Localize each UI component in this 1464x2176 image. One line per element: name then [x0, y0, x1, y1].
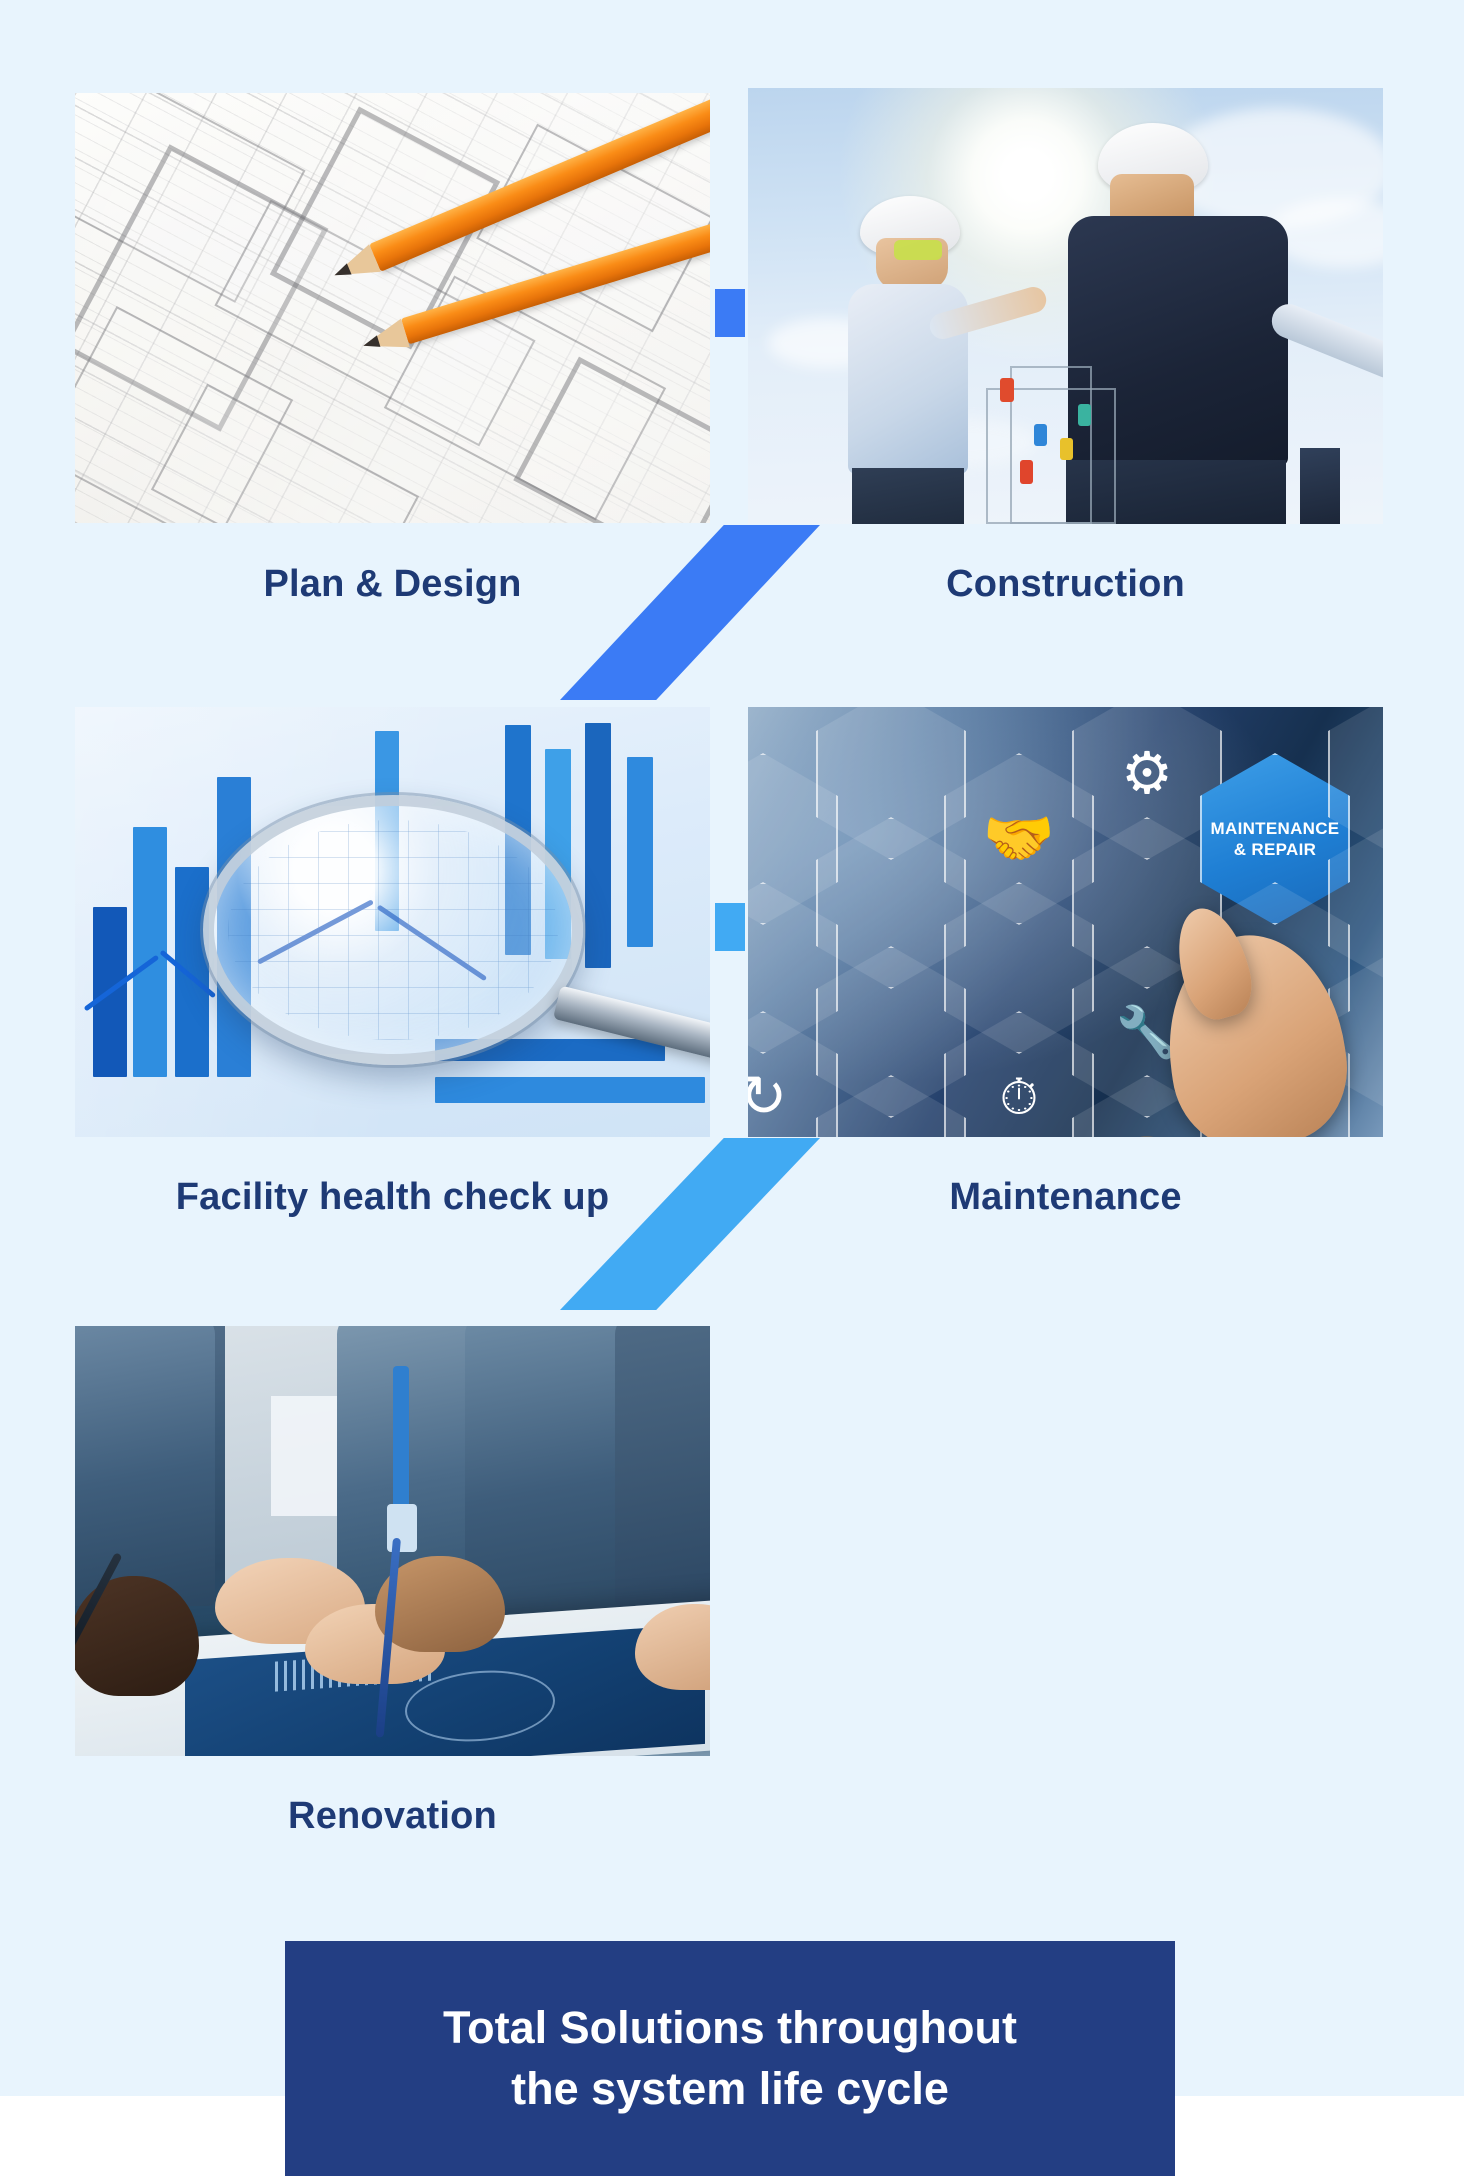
bottom-white-strip [0, 2096, 285, 2176]
blueprint-photo [75, 93, 710, 523]
wrench-screwdriver-icon: 🔧 [1116, 1007, 1178, 1057]
hex-line-1: MAINTENANCE [1211, 819, 1340, 838]
flow-arrow-1 [560, 525, 820, 700]
step-label-construction: Construction [748, 563, 1383, 606]
stopwatch-icon: ⏱ [1000, 1072, 1039, 1122]
step-card-plan-design[interactable] [75, 93, 710, 523]
construction-site-photo [748, 88, 1383, 524]
banner-line-2: the system life cycle [511, 2059, 949, 2120]
hex-line-2: & REPAIR [1234, 840, 1316, 859]
renovation-photo [75, 1326, 710, 1756]
handshake-icon: 🤝 [983, 810, 1055, 868]
step-label-plan-design: Plan & Design [75, 563, 710, 606]
step-label-facility-health-check: Facility health check up [75, 1176, 710, 1219]
facility-health-check-photo [75, 707, 710, 1137]
step-card-construction[interactable] [748, 88, 1383, 524]
step-card-maintenance[interactable]: ↻ 🤝 ⏱ ⚙ 🔧 🎧 MAINTENANCE & REPAIR ✓ [748, 707, 1383, 1137]
summary-banner: Total Solutions throughout the system li… [285, 1941, 1175, 2176]
step-card-facility-health-check[interactable] [75, 707, 710, 1137]
step-label-renovation: Renovation [75, 1795, 710, 1838]
gears-icon: ⚙ [1121, 745, 1173, 803]
maintenance-photo: ↻ 🤝 ⏱ ⚙ 🔧 🎧 MAINTENANCE & REPAIR ✓ [748, 707, 1383, 1137]
magnifying-glass-lens [203, 795, 583, 1065]
connector-square-1 [715, 289, 745, 337]
step-label-maintenance: Maintenance [748, 1176, 1383, 1219]
step-card-renovation[interactable] [75, 1326, 710, 1756]
refresh-cycle-icon: ↻ [748, 1068, 787, 1126]
maintenance-repair-label: MAINTENANCE & REPAIR [1211, 818, 1340, 861]
flow-arrow-2 [560, 1138, 820, 1310]
lifecycle-infographic: Plan & Design [0, 0, 1464, 2176]
banner-line-1: Total Solutions throughout [443, 1998, 1017, 2059]
connector-square-2 [715, 903, 745, 951]
bottom-white-strip-right [1175, 2096, 1464, 2176]
